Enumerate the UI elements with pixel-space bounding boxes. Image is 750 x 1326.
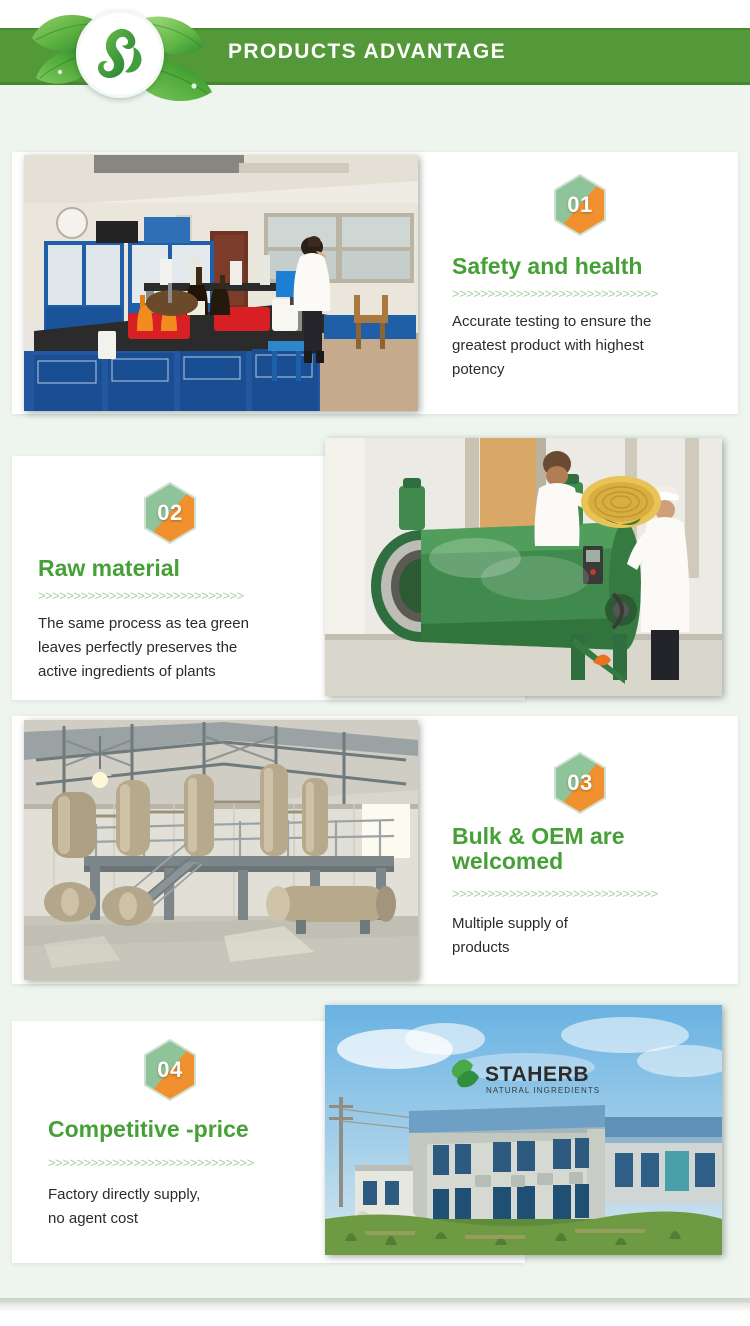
card-body: Multiple supply of products (452, 912, 724, 960)
badge-number: 03 (553, 752, 607, 814)
photo-lab-testing (24, 155, 418, 411)
badge-02: 02 (143, 482, 197, 544)
page-header: PRODUCTS ADVANTAGE (0, 0, 750, 130)
card-title: Bulk & OEM are welcomed (452, 824, 732, 874)
photo-tea-roasting-machine (325, 438, 722, 696)
advantage-row-3: 03 Bulk & OEM are welcomed >>>>>>>>>>>>>… (0, 716, 750, 984)
badge-number: 02 (143, 482, 197, 544)
page-title: PRODUCTS ADVANTAGE (228, 40, 506, 64)
card-title: Safety and health (452, 254, 732, 279)
card-body: The same process as tea green leaves per… (38, 612, 328, 684)
badge-01: 01 (553, 174, 607, 236)
advantage-page: PRODUCTS ADVANTAGE (0, 0, 750, 1303)
page-bottom-shadow (0, 1298, 750, 1312)
logo-circle-emblem (76, 10, 164, 98)
arrow-separator: >>>>>>>>>>>>>>>>>>>>>>>>>>>>> (452, 886, 704, 901)
swirl-trefoil-icon (89, 23, 151, 85)
card-title: Raw material (38, 556, 318, 581)
badge-number: 01 (553, 174, 607, 236)
arrow-separator: >>>>>>>>>>>>>>>>>>>>>>>>>>>>> (452, 286, 704, 301)
card-body: Accurate testing to ensure the greatest … (452, 310, 724, 382)
advantage-row-4: STAHERB NATURAL INGREDIENTS (0, 1005, 750, 1263)
brand-logo (22, 2, 222, 110)
photo-extraction-workshop (24, 720, 418, 980)
svg-text:STAHERB: STAHERB (485, 1063, 589, 1086)
advantage-row-2: 02 Raw material >>>>>>>>>>>>>>>>>>>>>>>>… (0, 438, 750, 700)
badge-04: 04 (143, 1039, 197, 1101)
card-title: Competitive -price (48, 1117, 338, 1142)
arrow-separator: >>>>>>>>>>>>>>>>>>>>>>>>>>>>> (38, 588, 290, 603)
arrow-separator: >>>>>>>>>>>>>>>>>>>>>>>>>>>>> (48, 1155, 300, 1170)
svg-text:NATURAL INGREDIENTS: NATURAL INGREDIENTS (486, 1086, 600, 1095)
badge-number: 04 (143, 1039, 197, 1101)
advantage-row-1: 01 Safety and health >>>>>>>>>>>>>>>>>>>… (0, 152, 750, 414)
photo-staherb-factory: STAHERB NATURAL INGREDIENTS (325, 1005, 722, 1255)
badge-03: 03 (553, 752, 607, 814)
card-body: Factory directly supply, no agent cost (48, 1183, 338, 1231)
